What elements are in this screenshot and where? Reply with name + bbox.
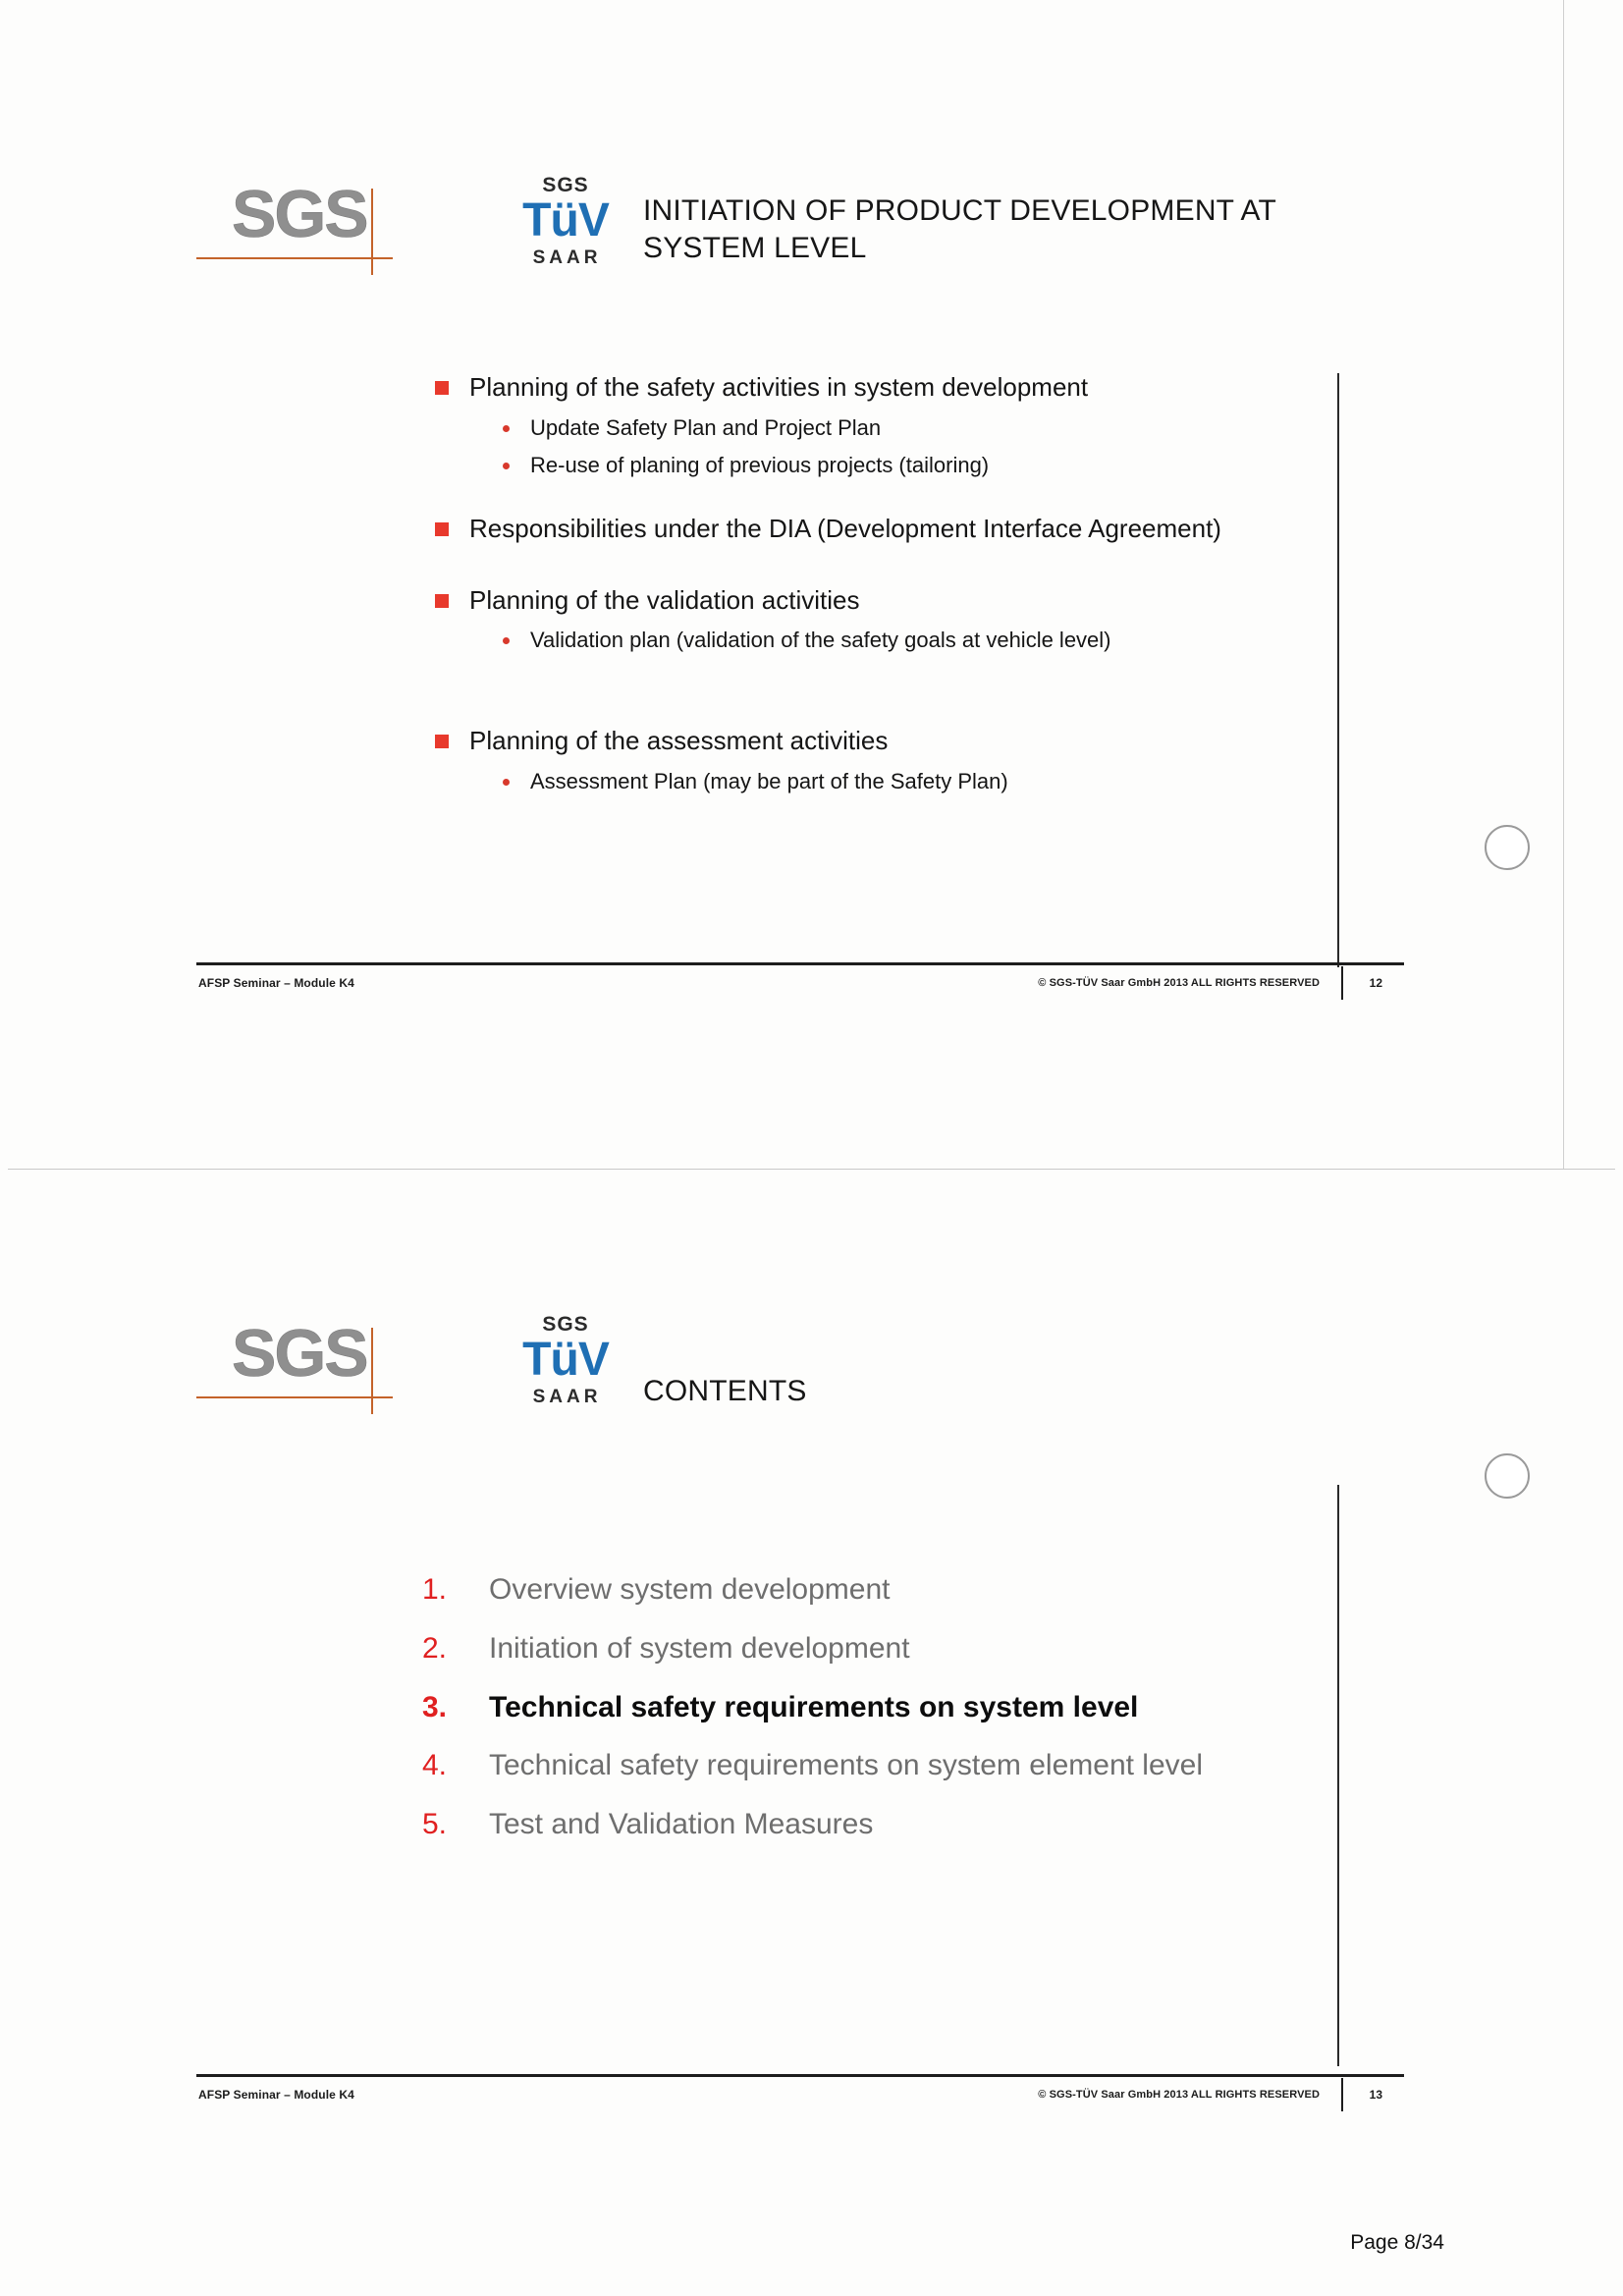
contents-item-label: Technical safety requirements on system … (489, 1749, 1203, 1781)
square-bullet-icon (435, 381, 449, 395)
footer-page-number: 12 (1370, 976, 1382, 990)
sgs-logo-text: SGS (232, 1320, 367, 1387)
spacer (422, 479, 1325, 513)
contents-item-2[interactable]: 2. Initiation of system development (412, 1630, 1257, 1667)
sub-bullet-text: Validation plan (validation of the safet… (530, 628, 1111, 652)
sgs-tuv-saar-logo: SGS TüV SAAR (507, 1314, 624, 1422)
slide-initiation-of-product-development: SGS SGS TüV SAAR INITIATION OF PRODUCT D… (0, 0, 1623, 1159)
footer-seminar-label: AFSP Seminar – Module K4 (198, 2088, 354, 2102)
footer-copyright: © SGS-TÜV Saar GmbH 2013 ALL RIGHTS RESE… (1038, 977, 1320, 989)
sub-bullet-text: Update Safety Plan and Project Plan (530, 415, 881, 440)
contents-item-label: Initiation of system development (489, 1632, 910, 1665)
sgs-tuv-saar-logo: SGS TüV SAAR (507, 175, 624, 283)
hole-punch-mark (1485, 1453, 1530, 1499)
sgs-logo: SGS (196, 1314, 424, 1418)
contents-item-number: 1. (422, 1571, 447, 1609)
contents-item-number: 4. (422, 1747, 447, 1784)
slide-right-vertical-rule (1337, 373, 1339, 967)
scanned-document-page: SGS SGS TüV SAAR INITIATION OF PRODUCT D… (0, 0, 1623, 2296)
slide-header: SGS SGS TüV SAAR INITIATION OF PRODUCT D… (196, 175, 1414, 293)
tuv-logo-main-text: TüV (507, 1336, 624, 1386)
hole-punch-mark (1485, 825, 1530, 870)
spacer (422, 551, 1325, 584)
footer-copyright: © SGS-TÜV Saar GmbH 2013 ALL RIGHTS RESE… (1038, 2089, 1320, 2101)
footer-page-number: 13 (1370, 2088, 1382, 2102)
bullet-text: Responsibilities under the DIA (Developm… (469, 513, 1325, 546)
contents-item-number: 3. (422, 1689, 447, 1726)
slide-footer: AFSP Seminar – Module K4 © SGS-TÜV Saar … (196, 962, 1404, 1004)
sub-bullet-item: Assessment Plan (may be part of the Safe… (422, 767, 1325, 795)
dot-bullet-icon (503, 637, 510, 644)
bullet-item: Planning of the assessment activities (422, 725, 1325, 758)
tuv-logo-top-text: SGS (507, 175, 624, 195)
tuv-logo-main-text: TüV (507, 196, 624, 246)
spacer (422, 654, 1325, 725)
sgs-logo-text: SGS (232, 181, 367, 247)
contents-item-label: Test and Validation Measures (489, 1808, 873, 1840)
dot-bullet-icon (503, 779, 510, 786)
footer-divider (1341, 966, 1343, 1000)
bullet-text: Planning of the safety activities in sys… (469, 371, 1325, 405)
footer-divider (1341, 2078, 1343, 2111)
sub-bullet-item: Re-use of planing of previous projects (… (422, 451, 1325, 479)
sub-bullet-text: Re-use of planing of previous projects (… (530, 453, 989, 477)
contents-item-4[interactable]: 4. Technical safety requirements on syst… (412, 1747, 1257, 1784)
slide-body: Planning of the safety activities in sys… (422, 371, 1325, 795)
bullet-item: Responsibilities under the DIA (Developm… (422, 513, 1325, 546)
document-page-indicator: Page 8/34 (1350, 2231, 1444, 2255)
page-edge-rule (1563, 0, 1564, 1169)
slide-header: SGS SGS TüV SAAR CONTENTS (196, 1314, 1414, 1432)
contents-item-3[interactable]: 3. Technical safety requirements on syst… (412, 1689, 1257, 1726)
sgs-logo-horizontal-rule (196, 1396, 393, 1398)
sub-bullet-item: Update Safety Plan and Project Plan (422, 413, 1325, 442)
sgs-logo: SGS (196, 175, 424, 279)
bullet-text: Planning of the assessment activities (469, 725, 1325, 758)
footer-rule (196, 2074, 1404, 2077)
footer-rule (196, 962, 1404, 965)
slide-title: CONTENTS (643, 1373, 1389, 1410)
sgs-logo-horizontal-rule (196, 257, 393, 259)
tuv-logo-bottom-text: SAAR (510, 1388, 624, 1406)
sgs-logo-vertical-rule (371, 189, 373, 275)
bullet-item: Planning of the validation activities (422, 584, 1325, 618)
tuv-logo-top-text: SGS (507, 1314, 624, 1335)
contents-item-label: Overview system development (489, 1573, 891, 1606)
slide-footer: AFSP Seminar – Module K4 © SGS-TÜV Saar … (196, 2074, 1404, 2115)
sub-bullet-item: Validation plan (validation of the safet… (422, 626, 1325, 654)
dot-bullet-icon (503, 425, 510, 432)
contents-item-5[interactable]: 5. Test and Validation Measures (412, 1806, 1257, 1843)
sgs-logo-vertical-rule (371, 1328, 373, 1414)
contents-list: 1. Overview system development 2. Initia… (412, 1571, 1257, 1865)
sub-bullet-text: Assessment Plan (may be part of the Safe… (530, 769, 1008, 793)
contents-item-label: Technical safety requirements on system … (489, 1691, 1138, 1723)
square-bullet-icon (435, 594, 449, 608)
square-bullet-icon (435, 735, 449, 748)
square-bullet-icon (435, 522, 449, 536)
tuv-logo-bottom-text: SAAR (510, 248, 624, 267)
bullet-item: Planning of the safety activities in sys… (422, 371, 1325, 405)
footer-seminar-label: AFSP Seminar – Module K4 (198, 976, 354, 990)
slide-title: INITIATION OF PRODUCT DEVELOPMENT AT SYS… (643, 192, 1389, 268)
bullet-text: Planning of the validation activities (469, 584, 1325, 618)
dot-bullet-icon (503, 463, 510, 469)
slide-right-vertical-rule (1337, 1485, 1339, 2066)
contents-item-number: 5. (422, 1806, 447, 1843)
contents-item-number: 2. (422, 1630, 447, 1667)
contents-item-1[interactable]: 1. Overview system development (412, 1571, 1257, 1609)
